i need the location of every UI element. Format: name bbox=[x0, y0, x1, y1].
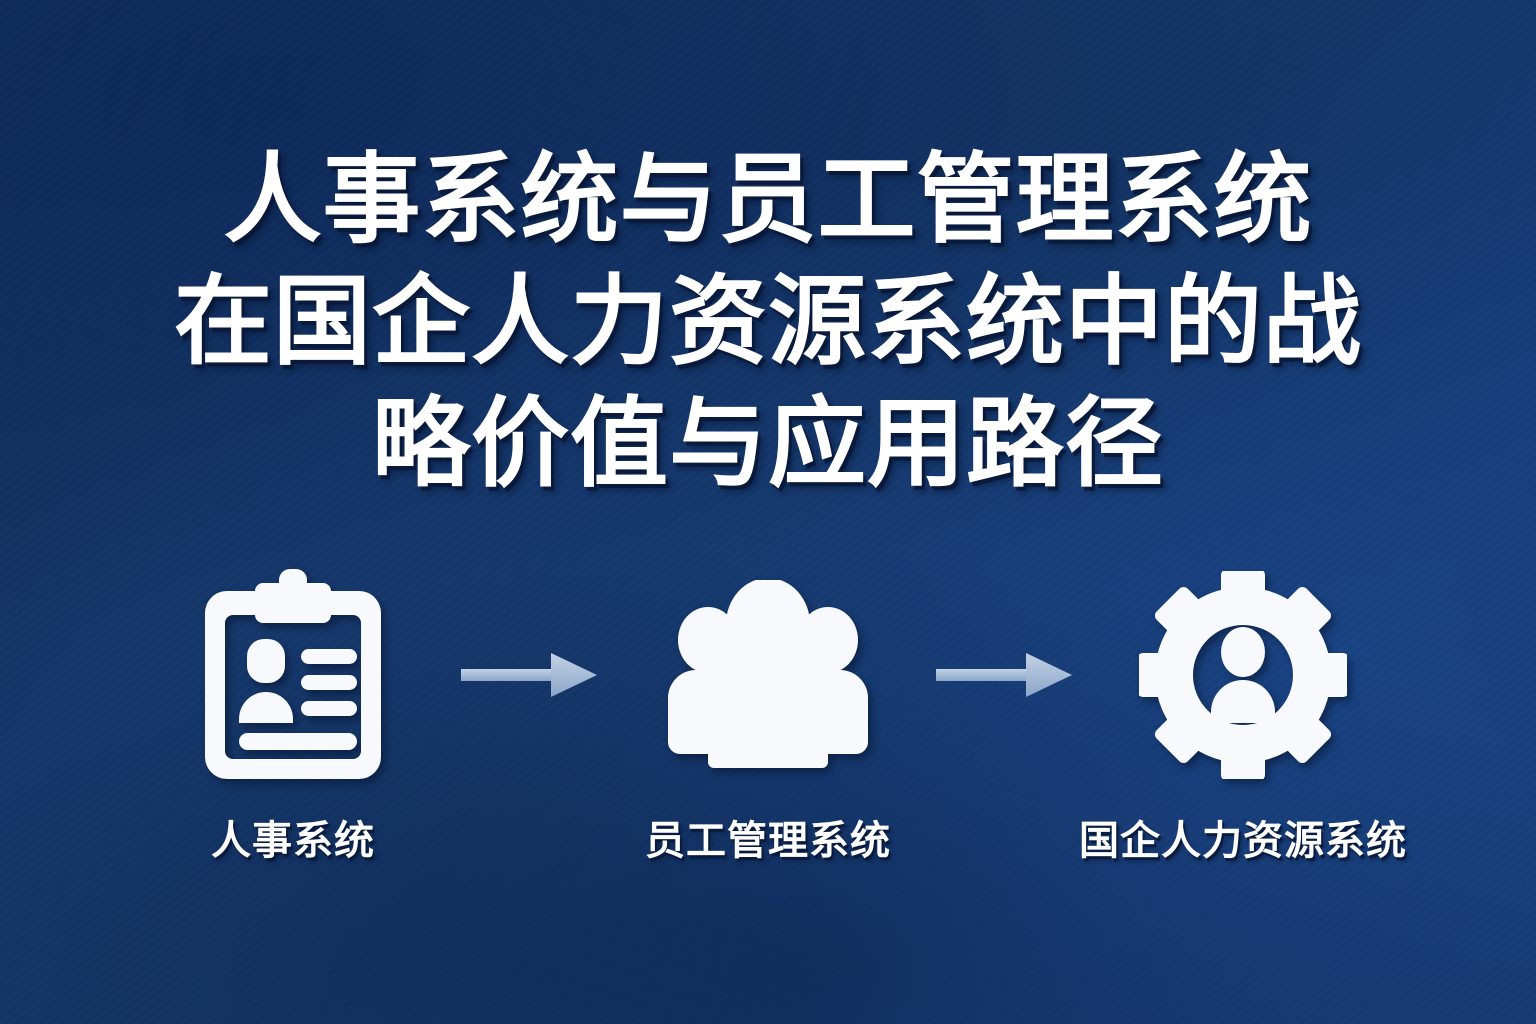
title-line-2: 在国企人力资源系统中的战 bbox=[0, 260, 1536, 382]
flow-node-label: 人事系统 bbox=[211, 808, 375, 866]
slide-canvas: 人事系统与员工管理系统 在国企人力资源系统中的战 略价值与应用路径 bbox=[0, 0, 1536, 1024]
gear-person-icon bbox=[1139, 560, 1347, 790]
title-line-1: 人事系统与员工管理系统 bbox=[0, 138, 1536, 260]
arrow-right-icon bbox=[918, 560, 1093, 790]
arrow-right-icon bbox=[443, 560, 618, 790]
page-title: 人事系统与员工管理系统 在国企人力资源系统中的战 略价值与应用路径 bbox=[0, 138, 1536, 504]
flow-node-personnel-system[interactable]: 人事系统 bbox=[143, 560, 443, 866]
flow-node-label: 员工管理系统 bbox=[645, 808, 891, 866]
flow-node-employee-management-system[interactable]: 员工管理系统 bbox=[618, 560, 918, 866]
flow-node-soe-hr-system[interactable]: 国企人力资源系统 bbox=[1093, 560, 1393, 866]
clipboard-person-icon bbox=[195, 560, 391, 790]
title-line-3: 略价值与应用路径 bbox=[0, 382, 1536, 504]
process-flow-diagram: 人事系统 bbox=[0, 560, 1536, 866]
flow-node-label: 国企人力资源系统 bbox=[1079, 808, 1407, 866]
users-group-icon bbox=[660, 560, 876, 790]
